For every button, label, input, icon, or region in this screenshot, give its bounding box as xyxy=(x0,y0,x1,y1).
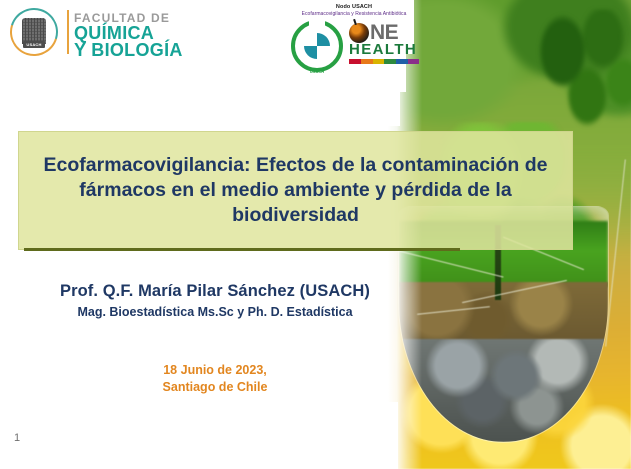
date-block: 18 Junio de 2023, Santiago de Chile xyxy=(0,362,430,396)
one-health-word-one: NE xyxy=(349,22,421,43)
author-credentials: Mag. Bioestadística Ms.Sc y Ph. D. Estad… xyxy=(0,305,430,319)
photo-edge-notch xyxy=(388,402,398,469)
faculty-name-line2: Y BIOLOGÍA xyxy=(74,42,183,59)
logo-divider xyxy=(67,10,69,54)
usach-seal-logo: USACH xyxy=(8,6,60,58)
nodo-caption-line1: Nodo USACH xyxy=(288,4,420,10)
nodo-caption-line2: Ecofarmacovigilancia y Resistencia Antib… xyxy=(288,11,420,17)
faculty-name: QUÍMICA Y BIOLOGÍA xyxy=(74,25,183,59)
usach-wordmark: USACH xyxy=(23,41,45,48)
one-health-word-health: HEALTH xyxy=(349,41,421,58)
horizontal-rule xyxy=(24,248,460,251)
nodo-caption: Nodo USACH Ecofarmacovigilancia y Resist… xyxy=(288,4,420,17)
one-health-ne: NE xyxy=(370,22,398,43)
title-box: Ecofarmacovigilancia: Efectos de la cont… xyxy=(18,131,573,250)
date-line: 18 Junio de 2023, xyxy=(0,362,430,379)
one-health-color-bar xyxy=(349,59,419,64)
globe-icon xyxy=(349,23,369,43)
page-number: 1 xyxy=(14,432,20,444)
presentation-slide: USACH FACULTAD DE QUÍMICA Y BIOLOGÍA Nod… xyxy=(0,0,631,469)
place-line: Santiago de Chile xyxy=(0,379,430,396)
nodo-logo-wordmark: USACH xyxy=(310,69,324,74)
author-name: Prof. Q.F. María Pilar Sánchez (USACH) xyxy=(0,282,430,301)
stones-layer xyxy=(399,339,608,442)
photo-edge-notch xyxy=(388,92,400,126)
slide-title: Ecofarmacovigilancia: Efectos de la cont… xyxy=(19,153,572,228)
author-block: Prof. Q.F. María Pilar Sánchez (USACH) M… xyxy=(0,282,430,319)
nodo-usach-logo: USACH xyxy=(291,20,343,72)
quadrant-cross-icon xyxy=(304,33,330,59)
one-health-logo: NE HEALTH xyxy=(349,22,421,64)
